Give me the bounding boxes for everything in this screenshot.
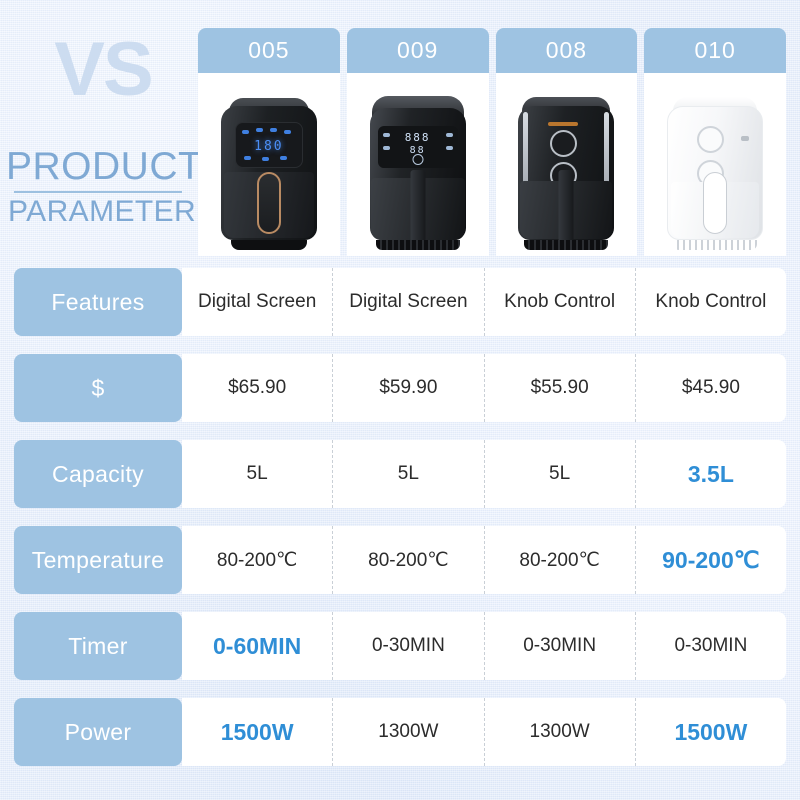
cell: 80-200℃ <box>182 526 333 594</box>
cell-highlighted: 90-200℃ <box>636 526 786 594</box>
table-row: Power 1500W 1300W 1300W 1500W <box>14 698 786 766</box>
cell: 1300W <box>485 698 636 766</box>
air-fryer-illustration: 888 88 <box>364 92 472 250</box>
cell-highlighted: 0-60MIN <box>182 612 333 680</box>
table-row: Features Digital Screen Digital Screen K… <box>14 268 786 336</box>
row-values: 0-60MIN 0-30MIN 0-30MIN 0-30MIN <box>182 612 786 680</box>
row-label-temperature: Temperature <box>14 526 182 594</box>
vs-heading: VS <box>10 34 196 106</box>
cell: $59.90 <box>333 354 484 422</box>
cell: Digital Screen <box>333 268 484 336</box>
title-divider <box>14 191 182 193</box>
product-cards: 005 180 <box>198 28 786 256</box>
row-label-power: Power <box>14 698 182 766</box>
row-label-features: Features <box>14 268 182 336</box>
table-row: Capacity 5L 5L 5L 3.5L <box>14 440 786 508</box>
handle <box>703 172 727 234</box>
cell: $45.90 <box>636 354 786 422</box>
cell: 0-30MIN <box>636 612 786 680</box>
handle <box>559 170 574 242</box>
comparison-infographic: VS PRODUCT PARAMETER 005 180 <box>0 0 800 800</box>
row-values: $65.90 $59.90 $55.90 $45.90 <box>182 354 786 422</box>
product-model-label: 008 <box>496 28 638 73</box>
product-image-008 <box>496 73 638 256</box>
comparison-table: Features Digital Screen Digital Screen K… <box>14 268 786 784</box>
cell: 80-200℃ <box>485 526 636 594</box>
row-values: 1500W 1300W 1300W 1500W <box>182 698 786 766</box>
cell: $55.90 <box>485 354 636 422</box>
cell: 5L <box>182 440 333 508</box>
row-label-capacity: Capacity <box>14 440 182 508</box>
handle <box>410 170 425 242</box>
product-heading: PRODUCT <box>0 144 196 190</box>
title-block: VS PRODUCT PARAMETER <box>0 34 196 230</box>
product-card-009[interactable]: 009 888 88 <box>347 28 489 256</box>
temperature-knob[interactable] <box>697 126 724 153</box>
power-indicator <box>741 136 749 141</box>
product-model-label: 005 <box>198 28 340 73</box>
row-label-timer: Timer <box>14 612 182 680</box>
air-fryer-illustration <box>512 92 620 250</box>
digital-display: 888 <box>405 131 431 144</box>
cell: 1300W <box>333 698 484 766</box>
cell: 5L <box>333 440 484 508</box>
cell: 0-30MIN <box>485 612 636 680</box>
cell: 0-30MIN <box>333 612 484 680</box>
cell: Knob Control <box>485 268 636 336</box>
product-image-005: 180 <box>198 73 340 256</box>
cell-highlighted: 3.5L <box>636 440 786 508</box>
digital-display: 180 <box>254 139 283 154</box>
table-row: $ $65.90 $59.90 $55.90 $45.90 <box>14 354 786 422</box>
product-card-008[interactable]: 008 <box>496 28 638 256</box>
cell: Knob Control <box>636 268 786 336</box>
product-model-label: 009 <box>347 28 489 73</box>
row-values: 5L 5L 5L 3.5L <box>182 440 786 508</box>
table-row: Temperature 80-200℃ 80-200℃ 80-200℃ 90-2… <box>14 526 786 594</box>
row-values: Digital Screen Digital Screen Knob Contr… <box>182 268 786 336</box>
product-card-010[interactable]: 010 <box>644 28 786 256</box>
air-fryer-illustration: 180 <box>215 92 323 250</box>
row-values: 80-200℃ 80-200℃ 80-200℃ 90-200℃ <box>182 526 786 594</box>
cell: Digital Screen <box>182 268 333 336</box>
product-image-009: 888 88 <box>347 73 489 256</box>
parameter-heading: PARAMETER <box>0 194 196 230</box>
indicator-strip <box>548 122 578 126</box>
row-label-price: $ <box>14 354 182 422</box>
product-image-010 <box>644 73 786 256</box>
air-fryer-illustration <box>661 92 769 250</box>
cell-highlighted: 1500W <box>182 698 333 766</box>
product-card-005[interactable]: 005 180 <box>198 28 340 256</box>
cell: 80-200℃ <box>333 526 484 594</box>
cell: 5L <box>485 440 636 508</box>
product-model-label: 010 <box>644 28 786 73</box>
handle <box>257 172 281 234</box>
table-row: Timer 0-60MIN 0-30MIN 0-30MIN 0-30MIN <box>14 612 786 680</box>
cell: $65.90 <box>182 354 333 422</box>
cell-highlighted: 1500W <box>636 698 786 766</box>
